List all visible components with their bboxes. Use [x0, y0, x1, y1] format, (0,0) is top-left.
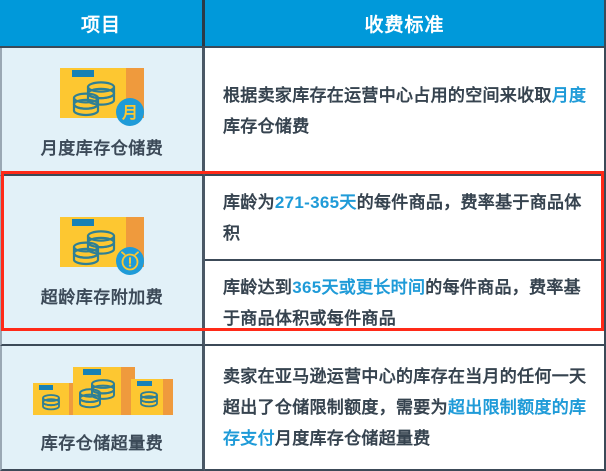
fee-text-part: 库龄为 — [223, 193, 275, 212]
box-coins-month-icon: 月 — [42, 64, 162, 128]
fee-cell-monthly-storage: 根据卖家库存在运营中心占用的空间来收取月度库存仓储费 — [205, 48, 604, 176]
table-header-row: 项目 收费标准 — [0, 0, 604, 48]
fee-description: 库龄为271-365天的每件商品，费率基于商品体积 — [205, 176, 604, 261]
item-cell-aged-inventory-surcharge: 超龄库存附加费 — [0, 176, 205, 346]
three-boxes-coins-icon — [27, 361, 177, 423]
column-header-item-label: 项目 — [81, 10, 121, 37]
table-row: 库存仓储超量费 卖家在亚马逊运营中心的库存在当月的任何一天超出了仓储限制额度，需… — [0, 346, 604, 471]
fee-cell-aged-inventory-surcharge: 库龄为271-365天的每件商品，费率基于商品体积 库龄达到365天或更长时间的… — [205, 176, 604, 346]
table-row: 月 月度库存仓储费 根据卖家库存在运营中心占用的空间来收取月度库存仓储费 — [0, 48, 604, 176]
fee-text-part: 库存仓储费 — [223, 117, 310, 136]
svg-text:月: 月 — [121, 104, 138, 122]
item-label: 月度库存仓储费 — [41, 134, 164, 159]
item-label: 超龄库存附加费 — [41, 283, 164, 308]
fee-standard-table: 项目 收费标准 — [0, 0, 606, 471]
fee-description: 卖家在亚马逊运营中心的库存在当月的任何一天超出了仓储限制额度，需要为超出限制额度… — [205, 346, 604, 469]
item-cell-monthly-storage: 月 月度库存仓储费 — [0, 48, 205, 176]
fee-cell-storage-overage: 卖家在亚马逊运营中心的库存在当月的任何一天超出了仓储限制额度，需要为超出限制额度… — [205, 346, 604, 471]
column-header-item: 项目 — [0, 0, 205, 46]
fee-text-highlight: 271-365天 — [275, 193, 357, 212]
fee-text-part: 库龄达到 — [223, 278, 292, 297]
fee-description: 根据卖家库存在运营中心占用的空间来收取月度库存仓储费 — [205, 48, 604, 174]
fee-description: 库龄达到365天或更长时间的每件商品，费率基于商品体积或每件商品 — [205, 261, 604, 344]
fee-text-part: 月度库存仓储超量费 — [275, 429, 431, 448]
item-cell-storage-overage: 库存仓储超量费 — [0, 346, 205, 471]
table-row: 超龄库存附加费 库龄为271-365天的每件商品，费率基于商品体积 库龄达到36… — [0, 176, 604, 346]
box-coins-clock-icon — [42, 213, 162, 277]
item-label: 库存仓储超量费 — [41, 429, 164, 454]
fee-text-part: 根据卖家库存在运营中心占用的空间来收取 — [223, 86, 552, 105]
column-header-fee: 收费标准 — [205, 0, 604, 46]
fee-text-highlight: 365天或更长时间 — [292, 278, 425, 297]
fee-text-highlight: 月度 — [552, 86, 587, 105]
column-header-fee-label: 收费标准 — [364, 10, 444, 37]
